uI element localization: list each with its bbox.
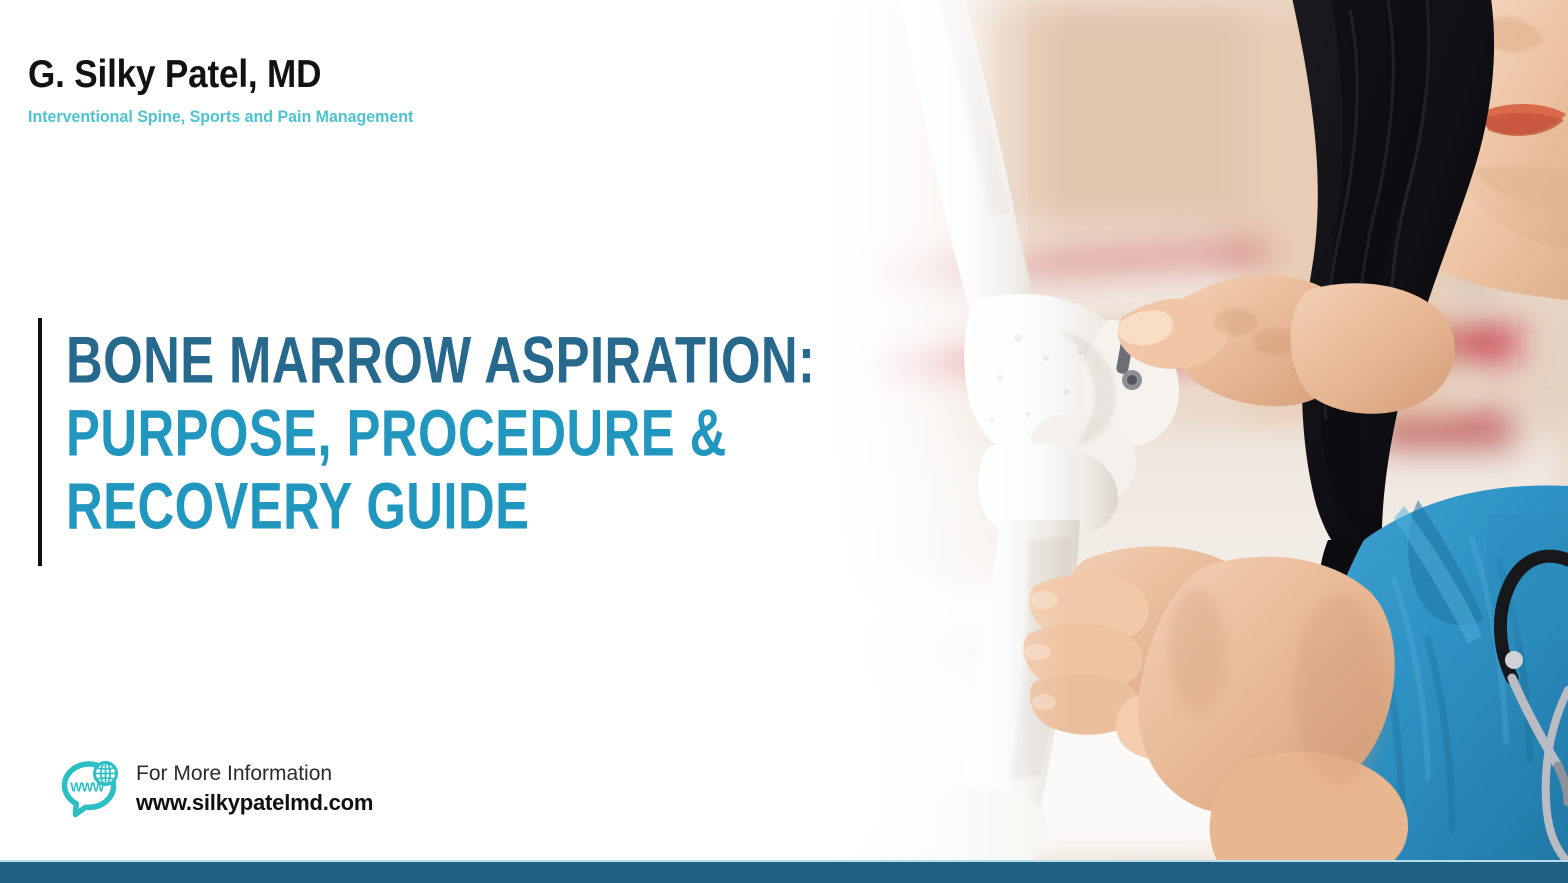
headline-accent-rule [38, 318, 42, 566]
brand-logo: G. Silky Patel, MD Interventional Spine,… [28, 52, 668, 128]
blog-banner: G. Silky Patel, MD Interventional Spine,… [0, 0, 1568, 883]
website-url[interactable]: www.silkypatelmd.com [136, 788, 373, 818]
headline-block: BONE MARROW ASPIRATION: PURPOSE, PROCEDU… [38, 318, 980, 566]
call-to-action: WWW For More Information www.silkypatelm… [58, 756, 373, 820]
page-title: BONE MARROW ASPIRATION: PURPOSE, PROCEDU… [66, 318, 980, 566]
bottom-bar [0, 862, 1568, 883]
headline-line-1: BONE MARROW ASPIRATION: [66, 322, 815, 399]
cta-label: For More Information [136, 760, 373, 788]
www-globe-icon: WWW [58, 756, 122, 820]
headline-line-2: PURPOSE, PROCEDURE & [66, 395, 815, 472]
brand-name: G. Silky Patel, MD [28, 52, 604, 98]
headline-line-3: RECOVERY GUIDE [66, 468, 815, 545]
brand-tagline: Interventional Spine, Sports and Pain Ma… [28, 106, 630, 128]
cta-text-block: For More Information www.silkypatelmd.co… [136, 758, 373, 818]
